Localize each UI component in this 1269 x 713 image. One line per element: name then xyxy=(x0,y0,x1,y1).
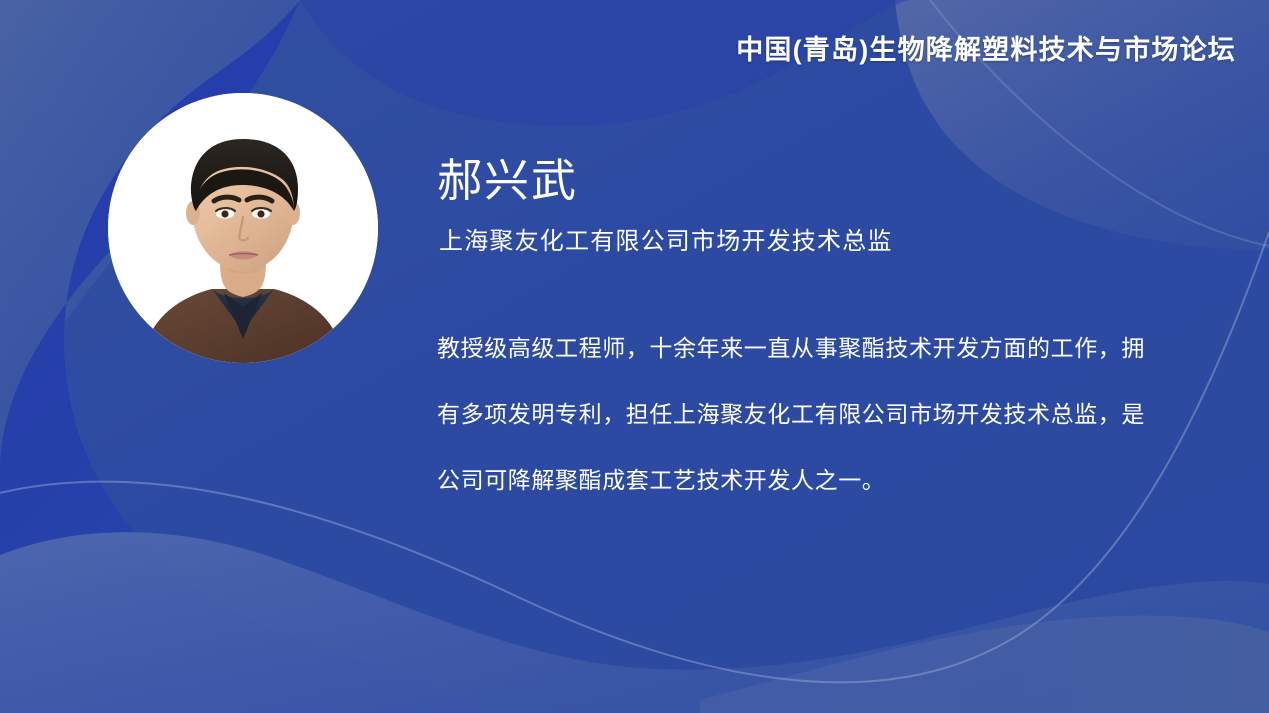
speaker-intro-slide: 中国(青岛)生物降解塑料技术与市场论坛 xyxy=(0,0,1269,713)
forum-title: 中国(青岛)生物降解塑料技术与市场论坛 xyxy=(736,34,1236,66)
speaker-bio: 教授级高级工程师，十余年来一直从事聚酯技术开发方面的工作，拥 有多项发明专利，担… xyxy=(437,315,1182,513)
portrait-photo xyxy=(108,93,378,363)
speaker-name: 郝兴武 xyxy=(437,156,578,206)
bio-line: 教授级高级工程师，十余年来一直从事聚酯技术开发方面的工作，拥 xyxy=(437,315,1182,381)
bio-line: 有多项发明专利，担任上海聚友化工有限公司市场开发技术总监，是 xyxy=(437,381,1182,447)
speaker-role: 上海聚友化工有限公司市场开发技术总监 xyxy=(439,228,893,257)
speaker-portrait xyxy=(108,93,378,363)
bio-line: 公司可降解聚酯成套工艺技术开发人之一。 xyxy=(437,447,1182,513)
